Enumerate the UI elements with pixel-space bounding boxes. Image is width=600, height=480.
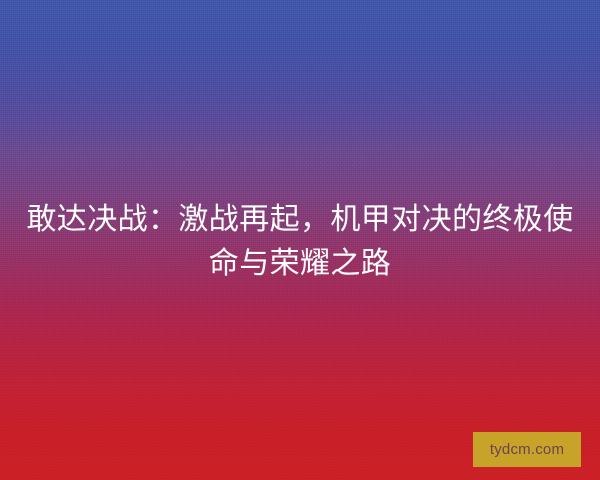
cover-title-line-2: 命与荣耀之路 (22, 242, 578, 286)
watermark-label: tydcm.com (490, 442, 564, 457)
cover-title-block: 敢达决战：激战再起，机甲对决的终极使 命与荣耀之路 (0, 198, 600, 286)
article-cover-image: 敢达决战：激战再起，机甲对决的终极使 命与荣耀之路 tydcm.com (0, 0, 600, 480)
cover-title-line-1: 敢达决战：激战再起，机甲对决的终极使 (22, 198, 578, 242)
watermark-badge[interactable]: tydcm.com (473, 432, 581, 467)
